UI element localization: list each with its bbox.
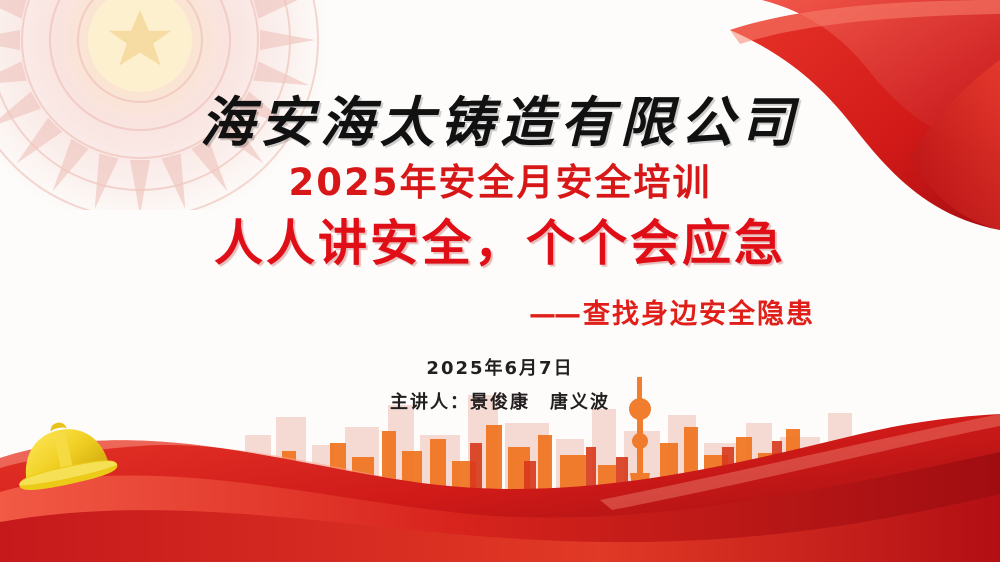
training-subtitle: 2025年安全月安全培训 — [0, 152, 1000, 206]
company-title: 海安海太铸造有限公司 — [0, 78, 1000, 157]
date-line: 2025年6月7日 — [0, 354, 1000, 380]
presentation-slide: 海安海太铸造有限公司 2025年安全月安全培训 人人讲安全，个个会应急 ——查找… — [0, 0, 1000, 562]
slide-text-block: 海安海太铸造有限公司 2025年安全月安全培训 人人讲安全，个个会应急 ——查找… — [0, 0, 1000, 562]
sub-slogan-dash: —— — [529, 299, 579, 330]
sub-slogan: ——查找身边安全隐患 — [529, 292, 815, 331]
main-slogan: 人人讲安全，个个会应急 — [0, 204, 1000, 275]
sub-slogan-text: 查找身边安全隐患 — [583, 299, 815, 330]
presenter-line: 主讲人：景俊康 唐义波 — [0, 388, 1000, 414]
